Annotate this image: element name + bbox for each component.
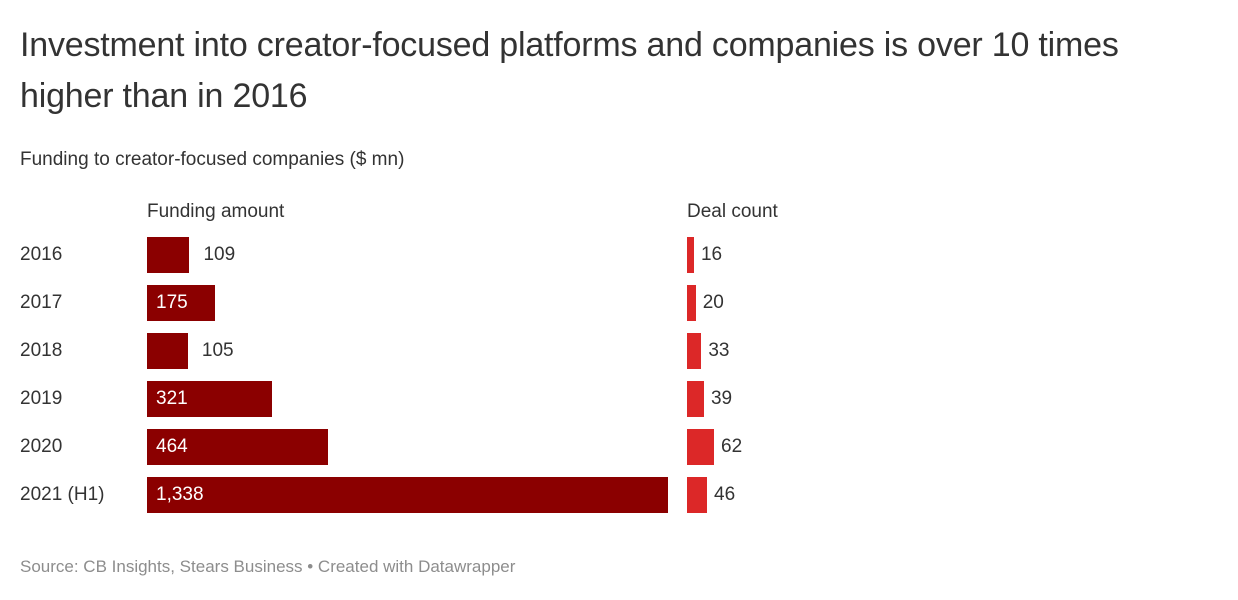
funding-bar (147, 237, 189, 273)
funding-bar-value-label: 175 (156, 285, 188, 321)
row-category-label: 2021 (H1) (20, 477, 105, 513)
deal-bar (687, 381, 704, 417)
row-category-label: 2016 (20, 237, 62, 273)
column-header-funding-amount: Funding amount (147, 199, 284, 225)
row-category-label: 2019 (20, 381, 62, 417)
chart-title: Investment into creator-focused platform… (20, 20, 1210, 122)
chart-row: 2021 (H1)1,33846 (0, 477, 1238, 525)
funding-bar-value-label: 464 (156, 429, 188, 465)
chart-footer-source: Source: CB Insights, Stears Business • C… (20, 554, 515, 579)
chart-rows: 2016109162017175202018105332019321392020… (0, 237, 1238, 525)
funding-bar (147, 477, 668, 513)
deal-bar (687, 429, 714, 465)
chart-row: 201810533 (0, 333, 1238, 381)
chart-subtitle: Funding to creator-focused companies ($ … (20, 146, 404, 173)
deal-bar (687, 237, 694, 273)
deal-bar-value-label: 20 (703, 285, 724, 321)
deal-bar (687, 477, 707, 513)
column-header-deal-count: Deal count (687, 199, 778, 225)
chart-container: Investment into creator-focused platform… (0, 0, 1238, 600)
funding-bar (147, 333, 188, 369)
funding-bar-value-label: 109 (203, 237, 235, 273)
deal-bar-value-label: 16 (701, 237, 722, 273)
deal-bar-value-label: 62 (721, 429, 742, 465)
deal-bar (687, 333, 701, 369)
deal-bar (687, 285, 696, 321)
funding-bar-value-label: 105 (202, 333, 234, 369)
chart-row: 201932139 (0, 381, 1238, 429)
deal-bar-value-label: 39 (711, 381, 732, 417)
funding-bar-value-label: 1,338 (156, 477, 204, 513)
chart-row: 201717520 (0, 285, 1238, 333)
row-category-label: 2018 (20, 333, 62, 369)
row-category-label: 2020 (20, 429, 62, 465)
chart-row: 202046462 (0, 429, 1238, 477)
deal-bar-value-label: 46 (714, 477, 735, 513)
row-category-label: 2017 (20, 285, 62, 321)
funding-bar-value-label: 321 (156, 381, 188, 417)
chart-row: 201610916 (0, 237, 1238, 285)
deal-bar-value-label: 33 (708, 333, 729, 369)
